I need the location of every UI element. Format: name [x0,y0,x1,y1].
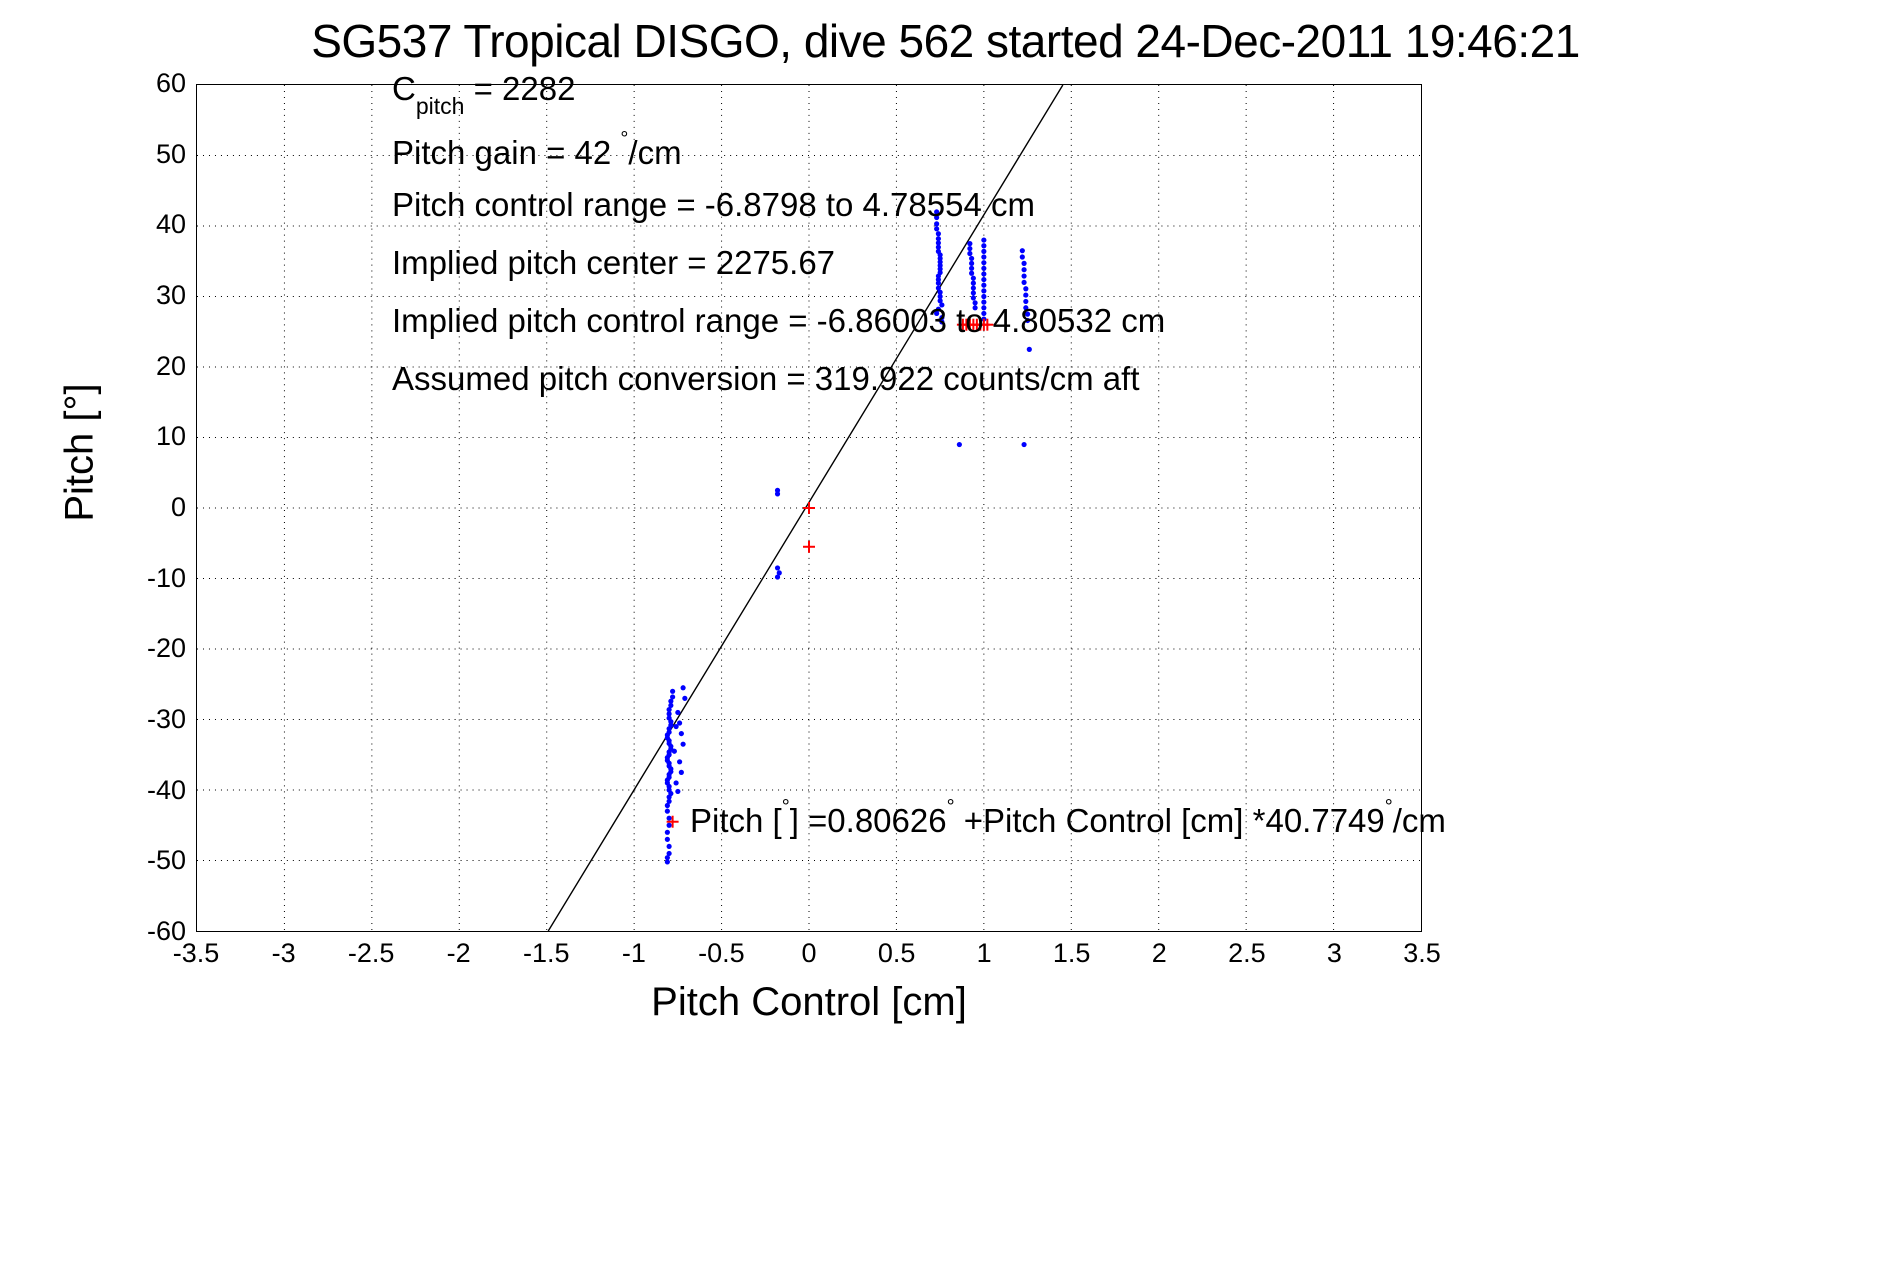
ytick-label: -30 [126,706,186,733]
ytick-label: 20 [126,353,186,380]
ytick-label: -20 [126,635,186,662]
ytick-label: 60 [126,70,186,97]
annotation-cpitch: Cpitch = 2282 [392,72,575,117]
equation-part-b: ] =0.80626 [790,802,947,839]
ytick-label: 40 [126,211,186,238]
degree-icon: ° [620,128,628,150]
y-axis-tick-labels: 60 50 40 30 20 10 0 -10 -20 -30 -40 -50 … [120,84,186,932]
x-axis-label: Pitch Control [cm] [196,980,1422,1025]
xtick-label: -2.5 [321,940,421,967]
annotation-cpitch-symbol: C [392,70,416,107]
y-axis-label: Pitch [°] [58,253,103,653]
xtick-label: 1.5 [1022,940,1122,967]
degree-icon: ° [947,796,955,818]
equation-part-d: /cm [1393,802,1446,839]
ytick-label: -40 [126,777,186,804]
figure-canvas: SG537 Tropical DISGO, dive 562 started 2… [0,0,1891,1262]
annotation-pitch-gain-pre: Pitch gain = 42 [392,134,620,171]
xtick-label: -3 [234,940,334,967]
page-title: SG537 Tropical DISGO, dive 562 started 2… [0,14,1891,68]
xtick-label: -1 [584,940,684,967]
degree-icon: ° [782,796,790,818]
ytick-label: 0 [126,494,186,521]
annotation-cpitch-value: = 2282 [464,70,575,107]
ytick-label: -50 [126,847,186,874]
x-axis-tick-labels: -3.5 -3 -2.5 -2 -1.5 -1 -0.5 0 0.5 1 1.5… [196,940,1422,976]
annotation-assumed-pitch-conversion: Assumed pitch conversion = 319.922 count… [392,362,1140,395]
xtick-label: 0.5 [847,940,947,967]
xtick-label: 3.5 [1372,940,1472,967]
ytick-label: 10 [126,423,186,450]
equation-part-c: +Pitch Control [cm] *40.7749 [955,802,1385,839]
annotation-cpitch-subscript: pitch [416,93,465,119]
annotation-pitch-gain: Pitch gain = 42 °/cm [392,130,682,169]
equation-part-a: Pitch [ [690,802,782,839]
degree-icon: ° [1385,796,1393,818]
ytick-label: 30 [126,282,186,309]
xtick-label: -0.5 [671,940,771,967]
xtick-label: -1.5 [496,940,596,967]
xtick-label: 2.5 [1197,940,1297,967]
ytick-label: 50 [126,141,186,168]
xtick-label: 2 [1109,940,1209,967]
ytick-label: -10 [126,565,186,592]
xtick-label: -3.5 [146,940,246,967]
annotation-fit-equation: Pitch [°] =0.80626° +Pitch Control [cm] … [690,802,1446,840]
xtick-label: 0 [759,940,859,967]
xtick-label: -2 [409,940,509,967]
xtick-label: 1 [934,940,1034,967]
annotation-implied-pitch-control-range: Implied pitch control range = -6.86003 t… [392,304,1165,337]
annotation-implied-pitch-center: Implied pitch center = 2275.67 [392,246,835,279]
annotation-pitch-gain-post: /cm [628,134,681,171]
annotation-pitch-control-range: Pitch control range = -6.8798 to 4.78554… [392,188,1035,221]
xtick-label: 3 [1284,940,1384,967]
